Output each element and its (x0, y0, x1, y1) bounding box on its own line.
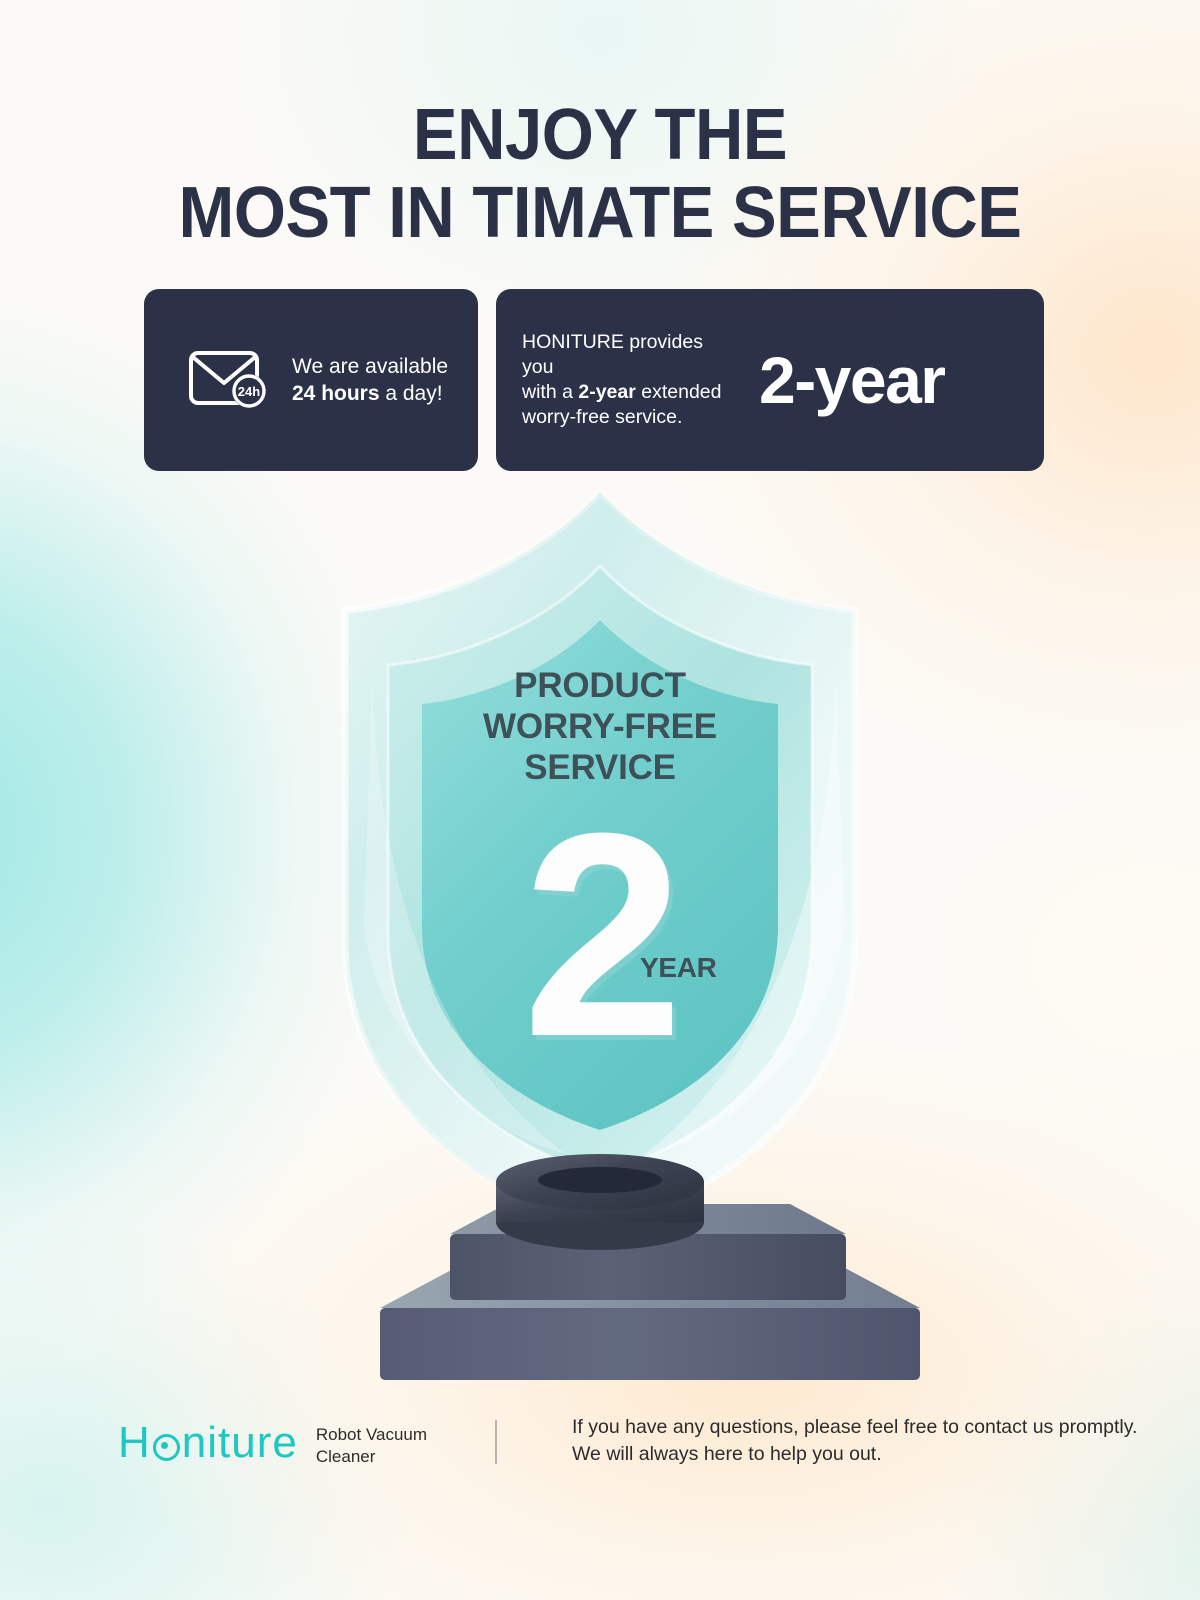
logo-prefix: H (118, 1421, 151, 1465)
brand-logo-block: Hniture Robot Vacuum Cleaner (118, 1418, 427, 1468)
product-category-line-2: Cleaner (316, 1447, 376, 1466)
shield-year-label: YEAR (640, 952, 717, 984)
availability-card: 24h We are available 24 hours a day! (144, 289, 478, 471)
pedestal-disc-slot (538, 1167, 662, 1193)
honiture-logo: Hniture (118, 1421, 298, 1465)
contact-line-2: We will always here to help you out. (572, 1443, 882, 1465)
shield-caption-line-1: PRODUCT (0, 665, 1200, 706)
logo-lidar-dot-icon (153, 1434, 180, 1461)
availability-hours-bold: 24 hours (292, 382, 380, 405)
page-footer: Hniture Robot Vacuum Cleaner If you have… (0, 1398, 1200, 1498)
logo-suffix: niture (182, 1421, 298, 1465)
product-category-label: Robot Vacuum Cleaner (316, 1418, 427, 1468)
warranty-badge-label: 2-year (759, 347, 945, 413)
warranty-copy-line-3: worry-free service. (522, 406, 682, 428)
warranty-copy-line-2-post: extended (636, 381, 722, 403)
svg-text:24h: 24h (238, 384, 260, 399)
info-card-group: 24h We are available 24 hours a day! HON… (144, 289, 1044, 471)
warranty-copy-line-1: HONITURE provides you (522, 331, 703, 378)
shield-caption-line-2: WORRY-FREE (0, 706, 1200, 747)
shield-big-number: 2 (0, 790, 1200, 1080)
envelope-24h-icon: 24h (188, 347, 274, 414)
availability-line-2-tail: a day! (380, 382, 443, 405)
headline-line-2: MOST IN TIMATE SERVICE (42, 174, 1158, 252)
product-category-line-1: Robot Vacuum (316, 1425, 427, 1444)
warranty-card-copy: HONITURE provides you with a 2-year exte… (522, 330, 737, 430)
contact-line-1: If you have any questions, please feel f… (572, 1416, 1137, 1438)
availability-card-text: We are available 24 hours a day! (292, 353, 448, 407)
availability-line-1: We are available (292, 355, 448, 378)
warranty-copy-line-2-pre: with a (522, 381, 578, 403)
page-title: ENJOY THE MOST IN TIMATE SERVICE (42, 96, 1158, 252)
shield-caption: PRODUCT WORRY-FREE SERVICE (0, 665, 1200, 788)
footer-divider (495, 1420, 497, 1464)
footer-contact-text: If you have any questions, please feel f… (572, 1414, 1137, 1468)
headline-line-1: ENJOY THE (42, 96, 1158, 174)
pedestal-lower-face (380, 1308, 920, 1380)
warranty-card: HONITURE provides you with a 2-year exte… (496, 289, 1044, 471)
warranty-copy-bold: 2-year (578, 381, 635, 403)
